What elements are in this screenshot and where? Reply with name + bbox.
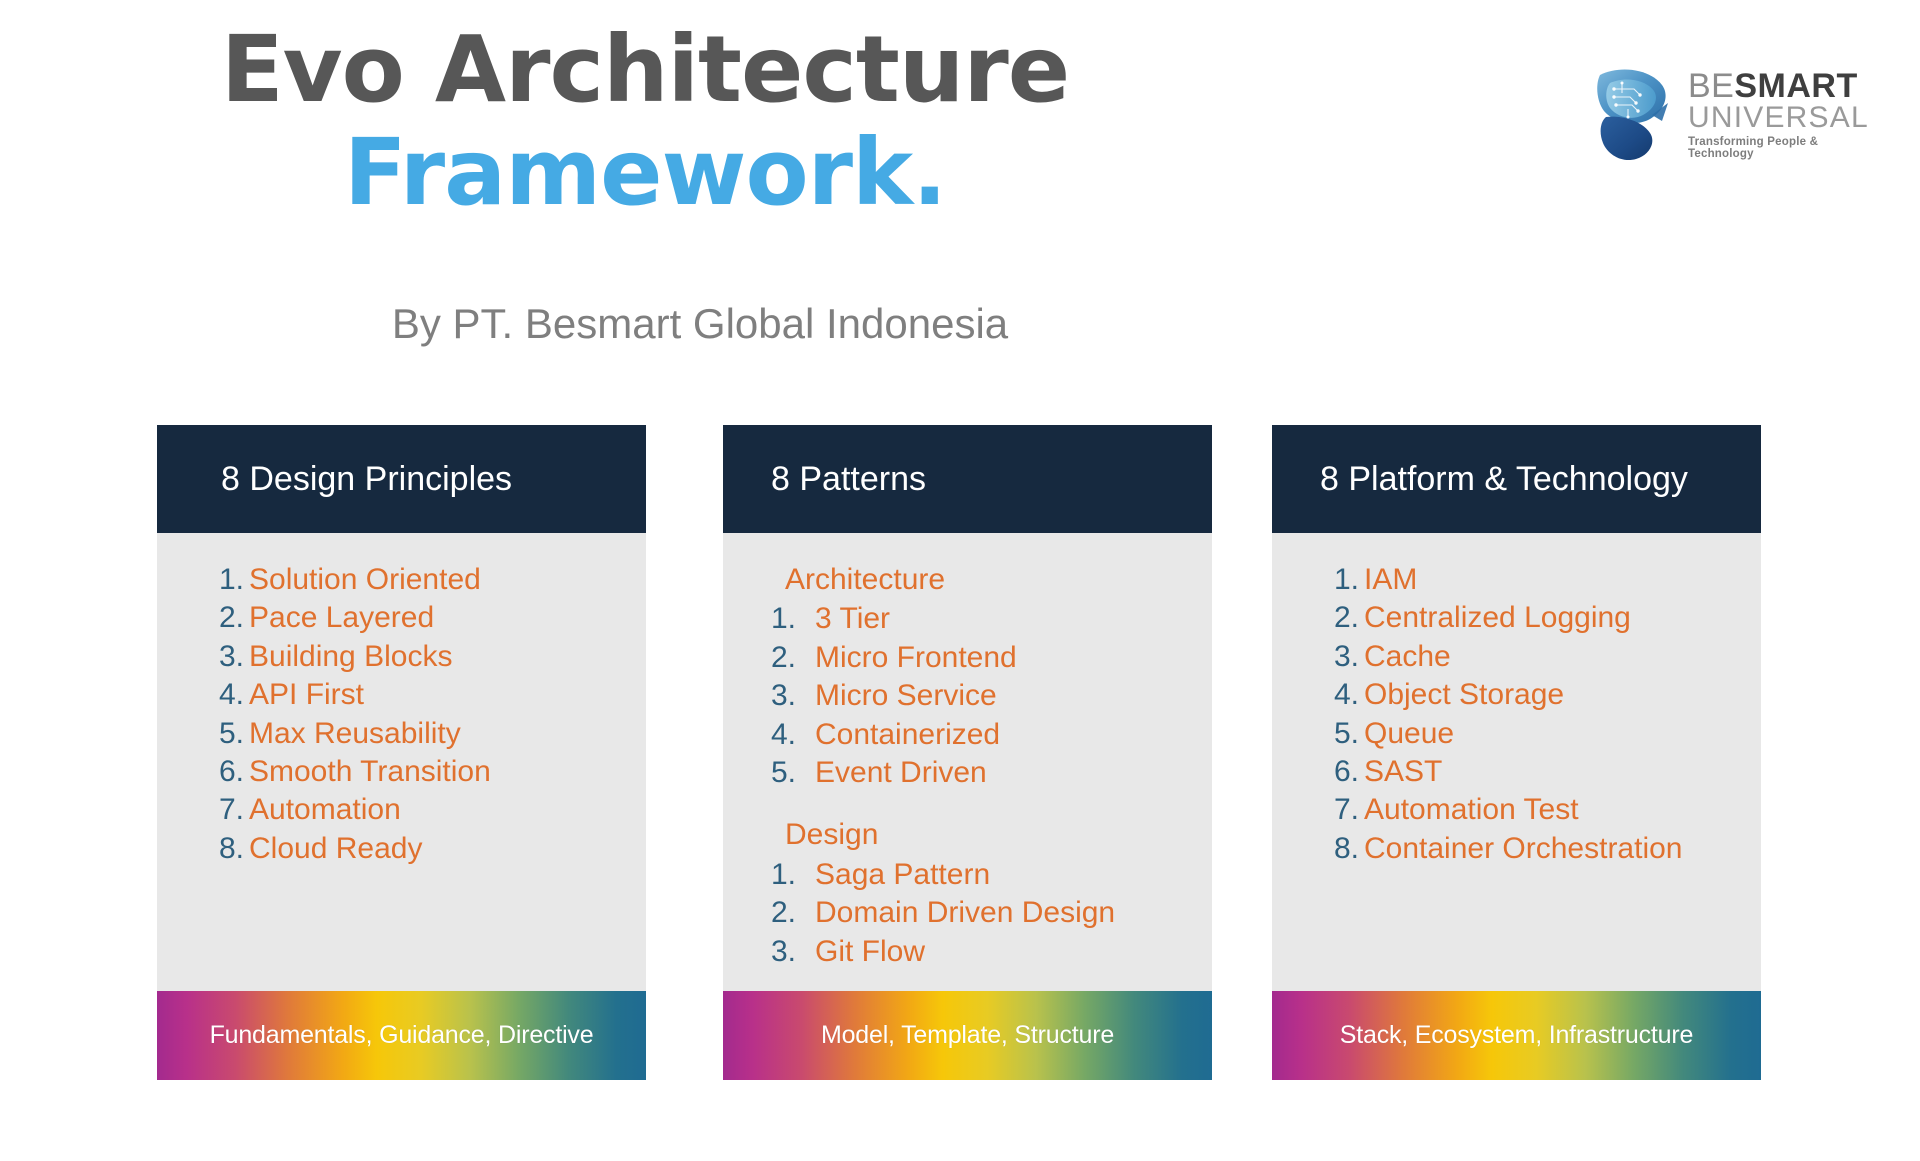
page-title-line1: Evo Architecture xyxy=(0,18,1290,121)
list-item: 8.Cloud Ready xyxy=(187,830,616,868)
list-item-label: Containerized xyxy=(815,716,1182,754)
list-item-number: 7. xyxy=(187,791,249,829)
list-item-number: 5. xyxy=(753,754,815,792)
logo-name: BESMART xyxy=(1688,70,1872,103)
list-item: 3.Git Flow xyxy=(753,933,1182,971)
list-item-number: 8. xyxy=(187,830,249,868)
list-item-label: Event Driven xyxy=(815,754,1182,792)
list-item-label: Automation xyxy=(249,791,616,829)
card-footer: Stack, Ecosystem, Infrastructure xyxy=(1272,991,1761,1080)
list-item: 7.Automation xyxy=(187,791,616,829)
group-label-design: Design xyxy=(753,816,1182,854)
list-item-number: 2. xyxy=(753,639,815,677)
list-item: 1.Solution Oriented xyxy=(187,561,616,599)
list-item-number: 2. xyxy=(753,894,815,932)
list-item-label: Container Orchestration xyxy=(1364,830,1731,868)
list-item-number: 4. xyxy=(187,676,249,714)
group-label-architecture: Architecture xyxy=(753,561,1182,599)
list-item-number: 6. xyxy=(1302,753,1364,791)
list-item-number: 3. xyxy=(187,638,249,676)
list-item-label: Max Reusability xyxy=(249,715,616,753)
title-block: Evo Architecture Framework. xyxy=(0,18,1290,224)
card-header: 8 Design Principles xyxy=(157,425,646,533)
list-item-label: Pace Layered xyxy=(249,599,616,637)
slide-canvas: Evo Architecture Framework. By PT. Besma… xyxy=(0,0,1920,1161)
list-item: 2.Centralized Logging xyxy=(1302,599,1731,637)
list-item-label: Solution Oriented xyxy=(249,561,616,599)
list-item-label: Cloud Ready xyxy=(249,830,616,868)
list-item: 2.Pace Layered xyxy=(187,599,616,637)
list-item-number: 4. xyxy=(753,716,815,754)
list-item-number: 5. xyxy=(187,715,249,753)
list-item-label: Object Storage xyxy=(1364,676,1731,714)
card-header: 8 Patterns xyxy=(723,425,1212,533)
list-item-number: 6. xyxy=(187,753,249,791)
list-item: 1.3 Tier xyxy=(753,600,1182,638)
card-body: 1.Solution Oriented 2.Pace Layered 3.Bui… xyxy=(157,533,646,991)
list-item: 5.Event Driven xyxy=(753,754,1182,792)
list-item: 8.Container Orchestration xyxy=(1302,830,1731,868)
card-title: 8 Patterns xyxy=(771,460,926,499)
list-item: 6.Smooth Transition xyxy=(187,753,616,791)
list-item-label: Git Flow xyxy=(815,933,1182,971)
list-item-number: 3. xyxy=(753,677,815,715)
item-list-architecture: 1.3 Tier 2.Micro Frontend 3.Micro Servic… xyxy=(753,600,1182,792)
list-item-number: 2. xyxy=(1302,599,1364,637)
list-item-number: 4. xyxy=(1302,676,1364,714)
list-item-label: API First xyxy=(249,676,616,714)
list-item-label: Smooth Transition xyxy=(249,753,616,791)
card-footer-label: Stack, Ecosystem, Infrastructure xyxy=(1340,1021,1693,1050)
list-item-number: 8. xyxy=(1302,830,1364,868)
card-footer: Fundamentals, Guidance, Directive xyxy=(157,991,646,1080)
list-item-number: 3. xyxy=(1302,638,1364,676)
list-item-label: Automation Test xyxy=(1364,791,1731,829)
item-list: 1.Solution Oriented 2.Pace Layered 3.Bui… xyxy=(187,561,616,868)
card-body: 1.IAM 2.Centralized Logging 3.Cache 4.Ob… xyxy=(1272,533,1761,991)
card-header: 8 Platform & Technology xyxy=(1272,425,1761,533)
list-item-label: Domain Driven Design xyxy=(815,894,1182,932)
card-platform-technology: 8 Platform & Technology 1.IAM 2.Centrali… xyxy=(1272,425,1761,1080)
list-item: 4.API First xyxy=(187,676,616,714)
list-item-number: 3. xyxy=(753,933,815,971)
list-item-label: Queue xyxy=(1364,715,1731,753)
list-item-label: Cache xyxy=(1364,638,1731,676)
list-item: 2.Micro Frontend xyxy=(753,639,1182,677)
list-item: 5.Max Reusability xyxy=(187,715,616,753)
list-item: 1.IAM xyxy=(1302,561,1731,599)
list-item-number: 1. xyxy=(187,561,249,599)
list-item-label: Centralized Logging xyxy=(1364,599,1731,637)
logo-tagline: Transforming People & Technology xyxy=(1688,136,1872,160)
logo-name-universal: UNIVERSAL xyxy=(1688,103,1872,133)
list-item-label: Saga Pattern xyxy=(815,856,1182,894)
page-title-line2: Framework. xyxy=(0,121,1290,224)
group-spacer xyxy=(753,792,1182,816)
card-body: Architecture 1.3 Tier 2.Micro Frontend 3… xyxy=(723,533,1212,991)
item-list-design: 1.Saga Pattern 2.Domain Driven Design 3.… xyxy=(753,856,1182,971)
list-item-number: 5. xyxy=(1302,715,1364,753)
list-item: 3.Micro Service xyxy=(753,677,1182,715)
list-item-label: Micro Service xyxy=(815,677,1182,715)
list-item-number: 7. xyxy=(1302,791,1364,829)
besmart-universal-logo: BESMART UNIVERSAL Transforming People & … xyxy=(1592,58,1872,168)
list-item: 5.Queue xyxy=(1302,715,1731,753)
list-item-number: 1. xyxy=(753,600,815,638)
list-item-label: IAM xyxy=(1364,561,1731,599)
item-list: 1.IAM 2.Centralized Logging 3.Cache 4.Ob… xyxy=(1302,561,1731,868)
card-footer: Model, Template, Structure xyxy=(723,991,1212,1080)
list-item-number: 1. xyxy=(1302,561,1364,599)
card-design-principles: 8 Design Principles 1.Solution Oriented … xyxy=(157,425,646,1080)
list-item-number: 1. xyxy=(753,856,815,894)
list-item: 7.Automation Test xyxy=(1302,791,1731,829)
list-item-label: Building Blocks xyxy=(249,638,616,676)
list-item: 1.Saga Pattern xyxy=(753,856,1182,894)
logo-name-be: BE xyxy=(1688,67,1734,105)
list-item-number: 2. xyxy=(187,599,249,637)
list-item: 6.SAST xyxy=(1302,753,1731,791)
list-item-label: SAST xyxy=(1364,753,1731,791)
list-item: 4.Containerized xyxy=(753,716,1182,754)
card-footer-label: Model, Template, Structure xyxy=(821,1021,1114,1050)
list-item: 4.Object Storage xyxy=(1302,676,1731,714)
card-patterns: 8 Patterns Architecture 1.3 Tier 2.Micro… xyxy=(723,425,1212,1080)
list-item: 2.Domain Driven Design xyxy=(753,894,1182,932)
logo-name-smart: SMART xyxy=(1734,67,1857,105)
butterfly-wing-circuit-icon xyxy=(1592,63,1678,163)
list-item-label: Micro Frontend xyxy=(815,639,1182,677)
card-footer-label: Fundamentals, Guidance, Directive xyxy=(210,1021,594,1050)
list-item: 3.Cache xyxy=(1302,638,1731,676)
list-item-label: 3 Tier xyxy=(815,600,1182,638)
page-subtitle: By PT. Besmart Global Indonesia xyxy=(0,300,1400,348)
list-item: 3.Building Blocks xyxy=(187,638,616,676)
card-title: 8 Platform & Technology xyxy=(1320,460,1688,499)
card-title: 8 Design Principles xyxy=(221,460,512,499)
logo-wordmark: BESMART UNIVERSAL Transforming People & … xyxy=(1688,66,1872,160)
